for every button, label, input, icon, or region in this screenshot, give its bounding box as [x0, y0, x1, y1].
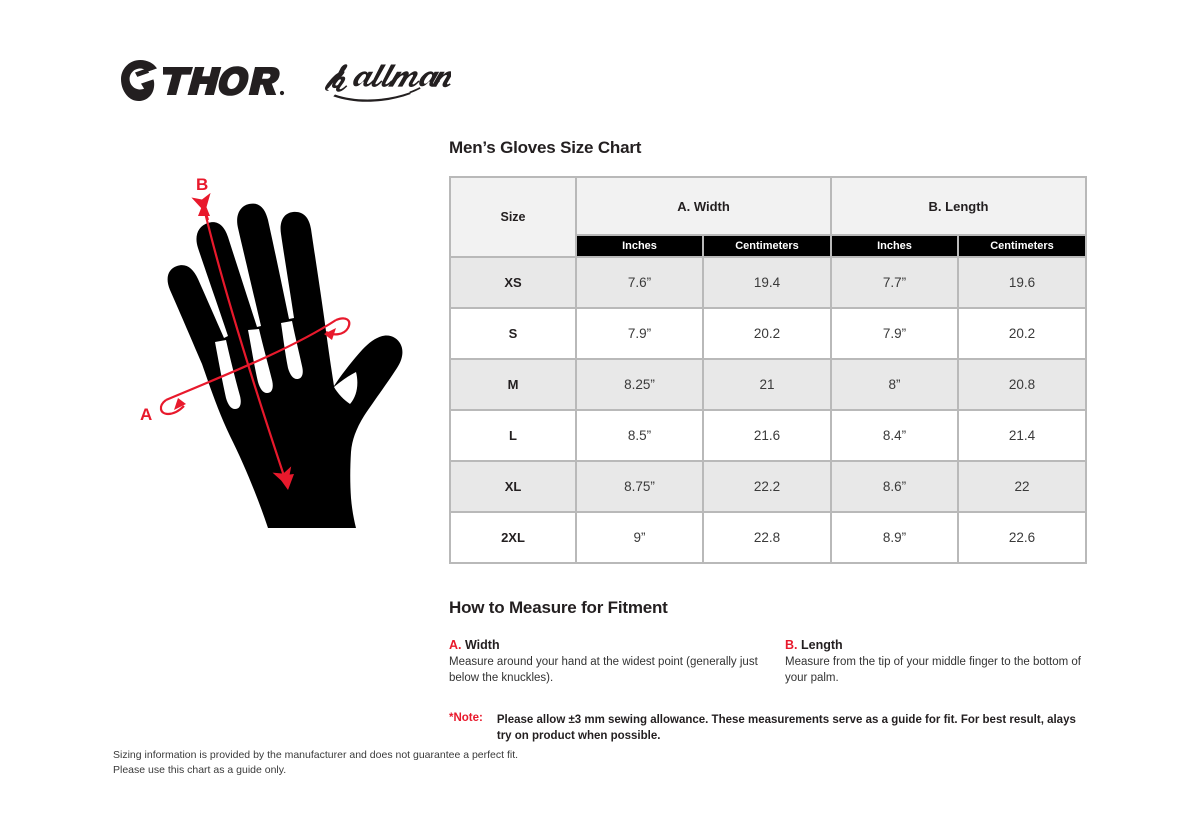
measure-item-width: A. Width Measure around your hand at the…: [449, 638, 785, 686]
column-group-header-length: B. Length: [831, 177, 1086, 235]
how-to-measure-section: How to Measure for Fitment A. Width Meas…: [449, 598, 1086, 686]
how-to-measure-title: How to Measure for Fitment: [449, 598, 1086, 618]
table-row: L8.5”21.68.4”21.4: [450, 410, 1086, 461]
cell-width-inches: 8.25”: [576, 359, 703, 410]
cell-length-inches: 8.6”: [831, 461, 958, 512]
table-body: XS7.6”19.47.7”19.6S7.9”20.27.9”20.2M8.25…: [450, 257, 1086, 563]
hallman-logo: [319, 53, 451, 105]
cell-length-inches: 8.4”: [831, 410, 958, 461]
measure-name-width: Width: [465, 638, 500, 652]
column-header-size: Size: [450, 177, 576, 257]
measure-item-length-heading: B. Length: [785, 638, 1085, 652]
cell-length-centimeters: 19.6: [958, 257, 1086, 308]
cell-size: 2XL: [450, 512, 576, 563]
cell-width-inches: 8.5”: [576, 410, 703, 461]
table-row: XS7.6”19.47.7”19.6: [450, 257, 1086, 308]
footer-line-1: Sizing information is provided by the ma…: [113, 748, 518, 763]
label-a: A: [140, 405, 152, 424]
table-row: XL8.75”22.28.6”22: [450, 461, 1086, 512]
footer-line-2: Please use this chart as a guide only.: [113, 763, 518, 778]
cell-length-inches: 8”: [831, 359, 958, 410]
cell-size: L: [450, 410, 576, 461]
cell-width-centimeters: 21: [703, 359, 831, 410]
cell-width-centimeters: 21.6: [703, 410, 831, 461]
size-chart-table: Size A. Width B. Length Inches Centimete…: [449, 176, 1087, 564]
cell-length-inches: 7.9”: [831, 308, 958, 359]
cell-width-centimeters: 19.4: [703, 257, 831, 308]
cell-width-inches: 8.75”: [576, 461, 703, 512]
measure-description-width: Measure around your hand at the widest p…: [449, 655, 763, 686]
column-header-width-inches: Inches: [576, 235, 703, 257]
cell-size: M: [450, 359, 576, 410]
measure-letter-a: A.: [449, 638, 462, 652]
note-label: *Note:: [449, 712, 483, 724]
measure-name-length: Length: [801, 638, 843, 652]
page-title: Men’s Gloves Size Chart: [449, 138, 1086, 158]
table-row: S7.9”20.27.9”20.2: [450, 308, 1086, 359]
cell-size: S: [450, 308, 576, 359]
hand-measurement-diagram: B A: [118, 168, 428, 558]
cell-width-centimeters: 22.8: [703, 512, 831, 563]
cell-width-inches: 7.9”: [576, 308, 703, 359]
cell-length-inches: 7.7”: [831, 257, 958, 308]
cell-length-centimeters: 22.6: [958, 512, 1086, 563]
column-header-length-inches: Inches: [831, 235, 958, 257]
cell-width-inches: 7.6”: [576, 257, 703, 308]
table-head: Size A. Width B. Length Inches Centimete…: [450, 177, 1086, 257]
cell-width-centimeters: 22.2: [703, 461, 831, 512]
column-header-length-centimeters: Centimeters: [958, 235, 1086, 257]
measure-letter-b: B.: [785, 638, 798, 652]
thor-logo: [113, 55, 285, 103]
table-row: 2XL9”22.88.9”22.6: [450, 512, 1086, 563]
column-group-header-width: A. Width: [576, 177, 831, 235]
cell-length-centimeters: 20.2: [958, 308, 1086, 359]
table-row: M8.25”218”20.8: [450, 359, 1086, 410]
measure-item-width-heading: A. Width: [449, 638, 763, 652]
note-text: Please allow ±3 mm sewing allowance. The…: [497, 712, 1086, 744]
cell-width-centimeters: 20.2: [703, 308, 831, 359]
measure-item-length: B. Length Measure from the tip of your m…: [785, 638, 1085, 686]
cell-size: XS: [450, 257, 576, 308]
column-header-width-centimeters: Centimeters: [703, 235, 831, 257]
note-section: *Note: Please allow ±3 mm sewing allowan…: [449, 712, 1086, 744]
cell-width-inches: 9”: [576, 512, 703, 563]
cell-length-centimeters: 21.4: [958, 410, 1086, 461]
label-b: B: [196, 175, 208, 194]
footer-disclaimer: Sizing information is provided by the ma…: [113, 748, 518, 778]
cell-size: XL: [450, 461, 576, 512]
cell-length-centimeters: 22: [958, 461, 1086, 512]
size-chart-content: Men’s Gloves Size Chart Size A. Width B.…: [449, 138, 1086, 744]
brand-logo-bar: [113, 48, 451, 110]
cell-length-inches: 8.9”: [831, 512, 958, 563]
measure-description-length: Measure from the tip of your middle fing…: [785, 655, 1085, 686]
table-group-header-row: Size A. Width B. Length: [450, 177, 1086, 235]
cell-length-centimeters: 20.8: [958, 359, 1086, 410]
